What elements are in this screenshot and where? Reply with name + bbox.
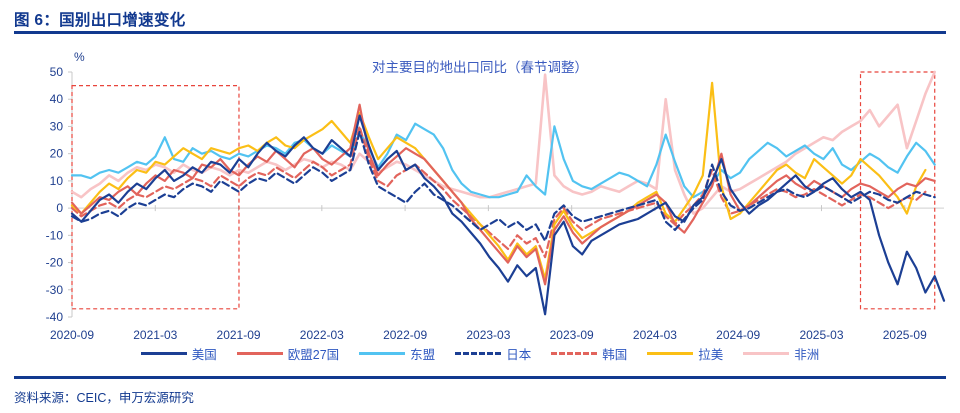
x-axis-tick-label: 2023-09 [550, 328, 594, 340]
legend-label: 拉美 [698, 344, 723, 363]
y-axis-tick-label: -30 [46, 283, 64, 297]
source-divider [14, 376, 946, 379]
figure-panel: 图 6：国别出口增速变化 对主要目的地出口同比（春节调整） % 50403020… [0, 0, 960, 413]
legend-item-美国[interactable]: 美国 [141, 344, 217, 363]
legend-swatch-拉美 [647, 352, 693, 355]
y-axis-tick-label: -10 [46, 228, 64, 242]
legend-item-非洲[interactable]: 非洲 [743, 344, 819, 363]
x-axis-tick-label: 2021-09 [217, 328, 261, 340]
x-axis-tick-label: 2022-09 [383, 328, 427, 340]
legend-swatch-日本 [455, 352, 501, 355]
series-line-韩国 [72, 126, 925, 257]
x-axis-tick-label: 2020-09 [50, 328, 94, 340]
legend-label: 非洲 [794, 344, 819, 363]
title-divider [14, 31, 946, 34]
line-chart-svg: 50403020100-10-20-30-402020-092021-03202… [0, 40, 960, 340]
legend-item-日本[interactable]: 日本 [455, 344, 531, 363]
legend-swatch-美国 [141, 352, 187, 355]
chart-legend: 美国欧盟27国东盟日本韩国拉美非洲 [0, 344, 960, 363]
chart-plot-area: 对主要目的地出口同比（春节调整） % 50403020100-10-20-30-… [0, 40, 960, 340]
y-axis-tick-label: -20 [46, 256, 64, 270]
y-axis-tick-label: 0 [56, 201, 63, 215]
legend-item-东盟[interactable]: 东盟 [359, 344, 435, 363]
x-axis-tick-label: 2025-09 [883, 328, 927, 340]
legend-swatch-非洲 [743, 352, 789, 355]
y-axis-tick-label: 30 [50, 119, 64, 133]
legend-swatch-韩国 [551, 352, 597, 355]
legend-label: 日本 [506, 344, 531, 363]
legend-label: 美国 [192, 344, 217, 363]
y-axis-tick-label: 40 [50, 92, 64, 106]
y-axis-tick-label: 50 [50, 65, 64, 79]
series-line-美国 [72, 116, 944, 315]
x-axis-tick-label: 2024-09 [716, 328, 760, 340]
legend-item-拉美[interactable]: 拉美 [647, 344, 723, 363]
x-axis-tick-label: 2024-03 [633, 328, 677, 340]
x-axis-tick-label: 2023-03 [466, 328, 510, 340]
legend-label: 东盟 [410, 344, 435, 363]
x-axis-tick-label: 2022-03 [300, 328, 344, 340]
highlight-box-left [72, 86, 239, 309]
y-axis-tick-label: 10 [50, 174, 64, 188]
figure-title: 图 6：国别出口增速变化 [14, 8, 186, 30]
legend-swatch-东盟 [359, 352, 405, 355]
legend-item-欧盟27国[interactable]: 欧盟27国 [237, 344, 339, 363]
source-note: 资料来源：CEIC，申万宏源研究 [14, 387, 194, 406]
legend-item-韩国[interactable]: 韩国 [551, 344, 627, 363]
x-axis-tick-label: 2025-03 [799, 328, 843, 340]
y-axis-tick-label: 20 [50, 147, 64, 161]
x-axis-tick-label: 2021-03 [133, 328, 177, 340]
legend-label: 韩国 [602, 344, 627, 363]
series-line-非洲 [72, 72, 935, 214]
legend-swatch-欧盟27国 [237, 352, 283, 355]
y-axis-tick-label: -40 [46, 310, 64, 324]
legend-label: 欧盟27国 [288, 344, 339, 363]
